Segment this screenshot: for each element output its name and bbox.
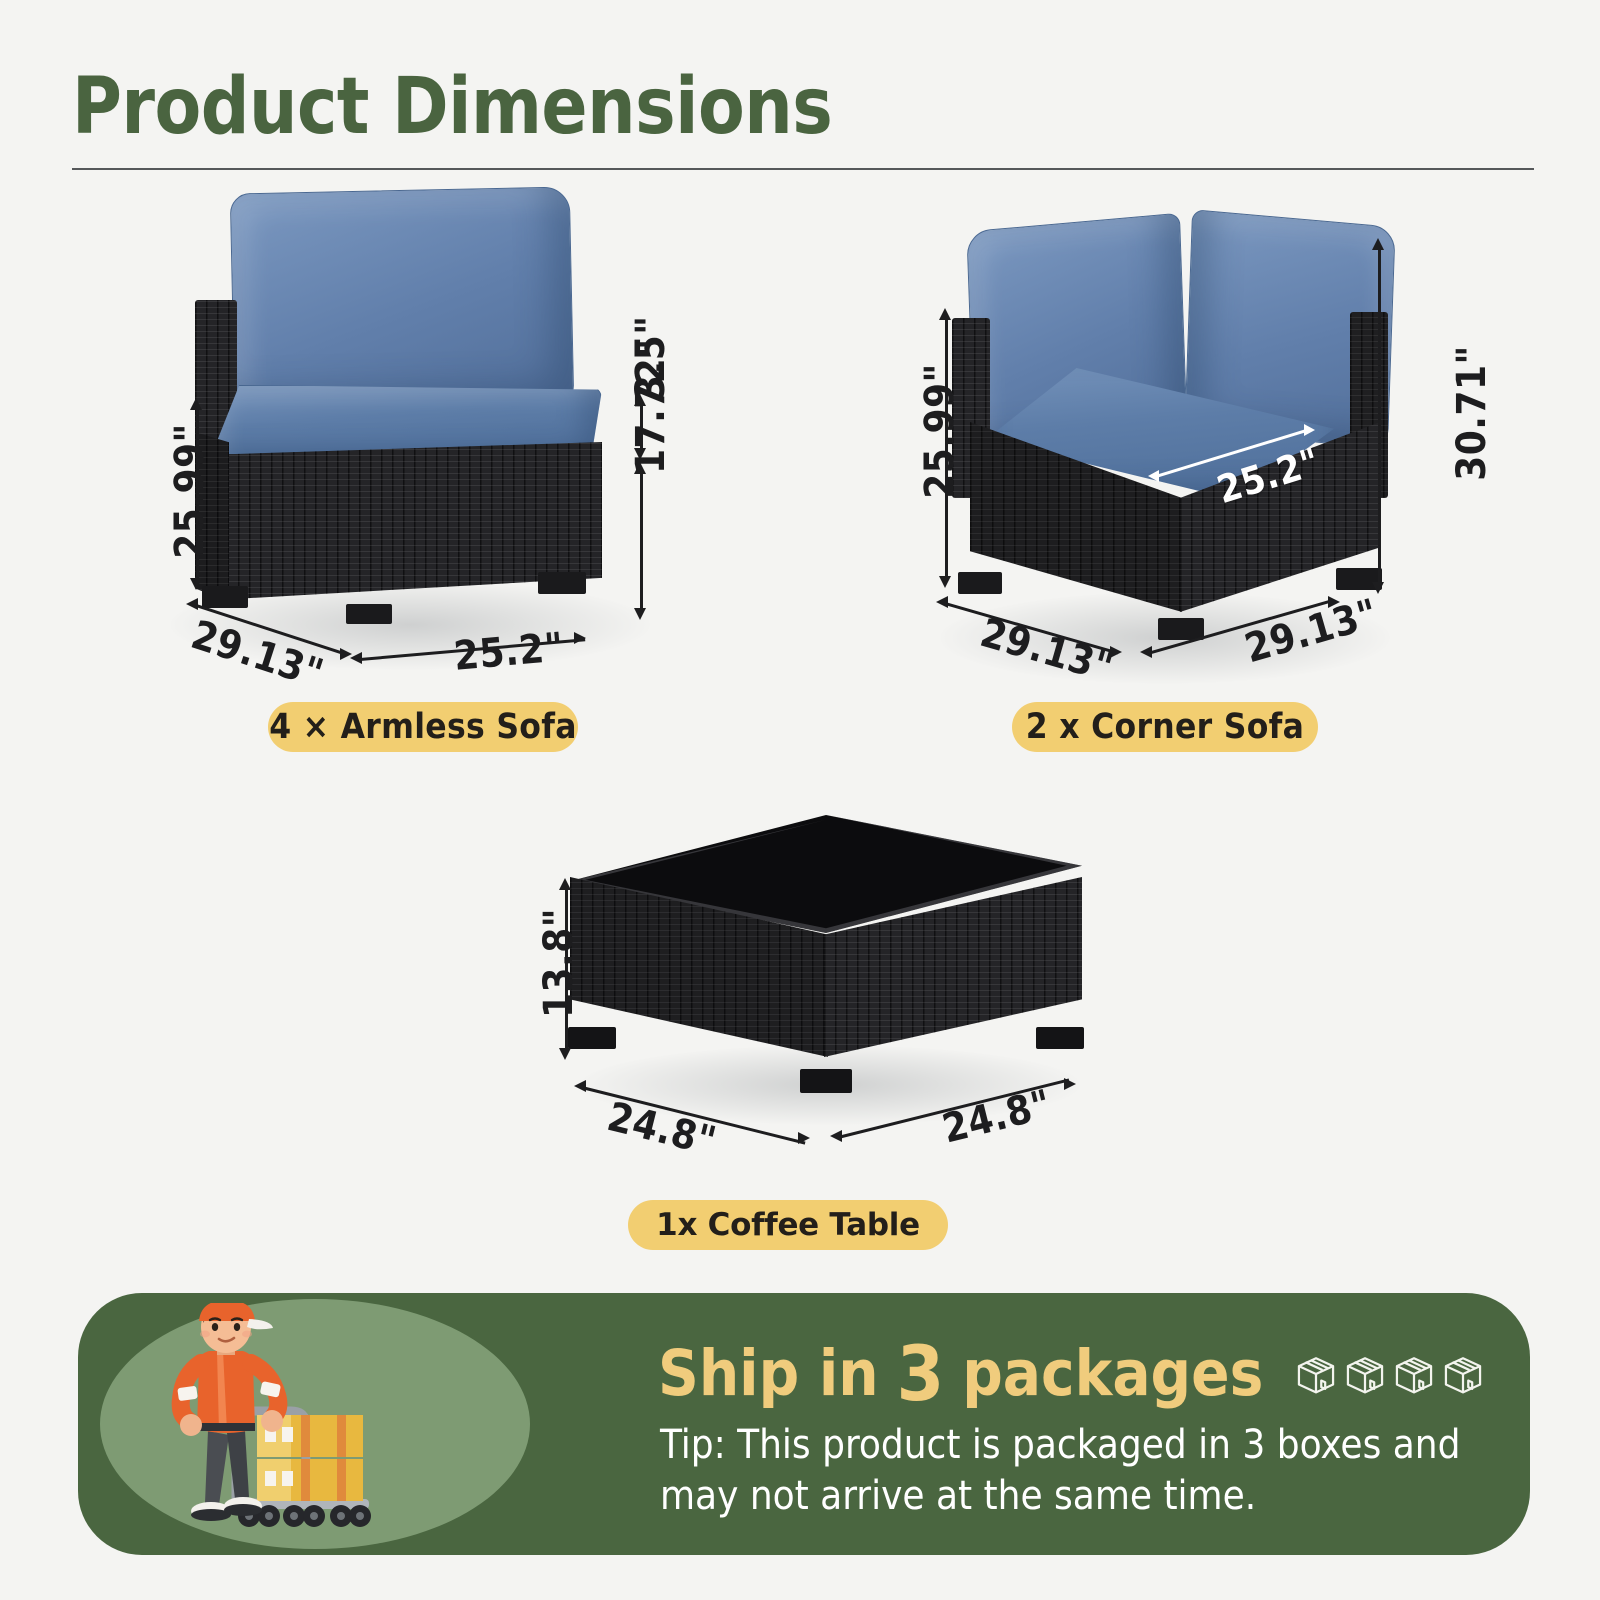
corner-depth-right-arrow-left — [1140, 646, 1152, 658]
table-dim-height: 13.8" — [536, 908, 582, 1018]
ship-headline-suffix: packages — [962, 1337, 1263, 1410]
package-box-icon — [1295, 1353, 1337, 1395]
corner-height-side-arrow-bottom — [939, 576, 951, 588]
armless-sofa-leg-back — [346, 604, 392, 624]
table-width-right-arrow-right — [1064, 1078, 1076, 1090]
package-box-icon — [1393, 1353, 1435, 1395]
armless-seatheight-line — [640, 470, 643, 610]
armless-height-arrow-bottom — [190, 578, 202, 590]
page-title: Product Dimensions — [72, 62, 832, 152]
corner-seatwidth-arrow-right — [1304, 424, 1315, 436]
table-height-arrow-bottom — [559, 1048, 571, 1060]
armless-dim-seat-height: 17.72" — [628, 338, 674, 474]
ship-banner: Ship in 3 packages — [78, 1293, 1530, 1555]
badge-armless-sofa[interactable]: 4 × Armless Sofa — [268, 702, 578, 752]
package-box-icon — [1442, 1353, 1484, 1395]
corner-dim-overall-height: 30.71" — [1449, 345, 1495, 481]
armless-sofa-illustration — [150, 180, 670, 680]
armless-height-arrow-top — [190, 398, 202, 410]
ship-headline: Ship in 3 packages — [658, 1329, 1484, 1418]
corner-seatwidth-arrow-left — [1148, 470, 1159, 482]
coffee-table-leg-left — [568, 1027, 616, 1049]
package-icon-group — [1295, 1353, 1484, 1395]
corner-height-overall-arrow-top — [1372, 238, 1384, 250]
coffee-table-leg-front — [800, 1069, 852, 1093]
package-box-icon — [1344, 1353, 1386, 1395]
armless-width-arrow-right — [574, 632, 586, 644]
title-divider — [72, 168, 1534, 170]
coffee-table-illustration — [570, 815, 1090, 1125]
corner-dim-side-height: 25.99" — [917, 363, 963, 499]
armless-width-arrow-left — [350, 652, 362, 664]
table-height-arrow-top — [559, 878, 571, 890]
armless-dim-overall-height: 25.99" — [167, 423, 213, 559]
corner-height-overall-arrow-bottom — [1372, 582, 1384, 594]
corner-height-side-arrow-top — [939, 308, 951, 320]
ship-headline-prefix: Ship in — [658, 1337, 879, 1410]
delivery-worker-illustration — [136, 1303, 486, 1553]
coffee-table-leg-right — [1036, 1027, 1084, 1049]
armless-sofa-leg-right — [538, 572, 586, 594]
armless-sofa-leg-left — [202, 586, 248, 608]
ship-package-count: 3 — [897, 1329, 945, 1418]
ship-tip-text: Tip: This product is packaged in 3 boxes… — [660, 1420, 1500, 1522]
armless-dim-width: 25.2" — [452, 624, 566, 679]
table-width-right-arrow-left — [830, 1130, 842, 1142]
armless-seatheight-arrow-bottom — [634, 608, 646, 620]
corner-height-overall-line — [1378, 248, 1381, 584]
corner-sofa-leg-left — [958, 572, 1002, 594]
armless-depth-arrow-left — [186, 598, 198, 610]
table-width-left-arrow-left — [574, 1080, 586, 1092]
badge-coffee-table[interactable]: 1x Coffee Table — [628, 1200, 948, 1250]
table-width-left-arrow-right — [798, 1132, 810, 1144]
corner-depth-left-arrow-left — [936, 596, 948, 608]
badge-corner-sofa[interactable]: 2 x Corner Sofa — [1012, 702, 1318, 752]
armless-sofa-back-cushion — [230, 186, 574, 408]
